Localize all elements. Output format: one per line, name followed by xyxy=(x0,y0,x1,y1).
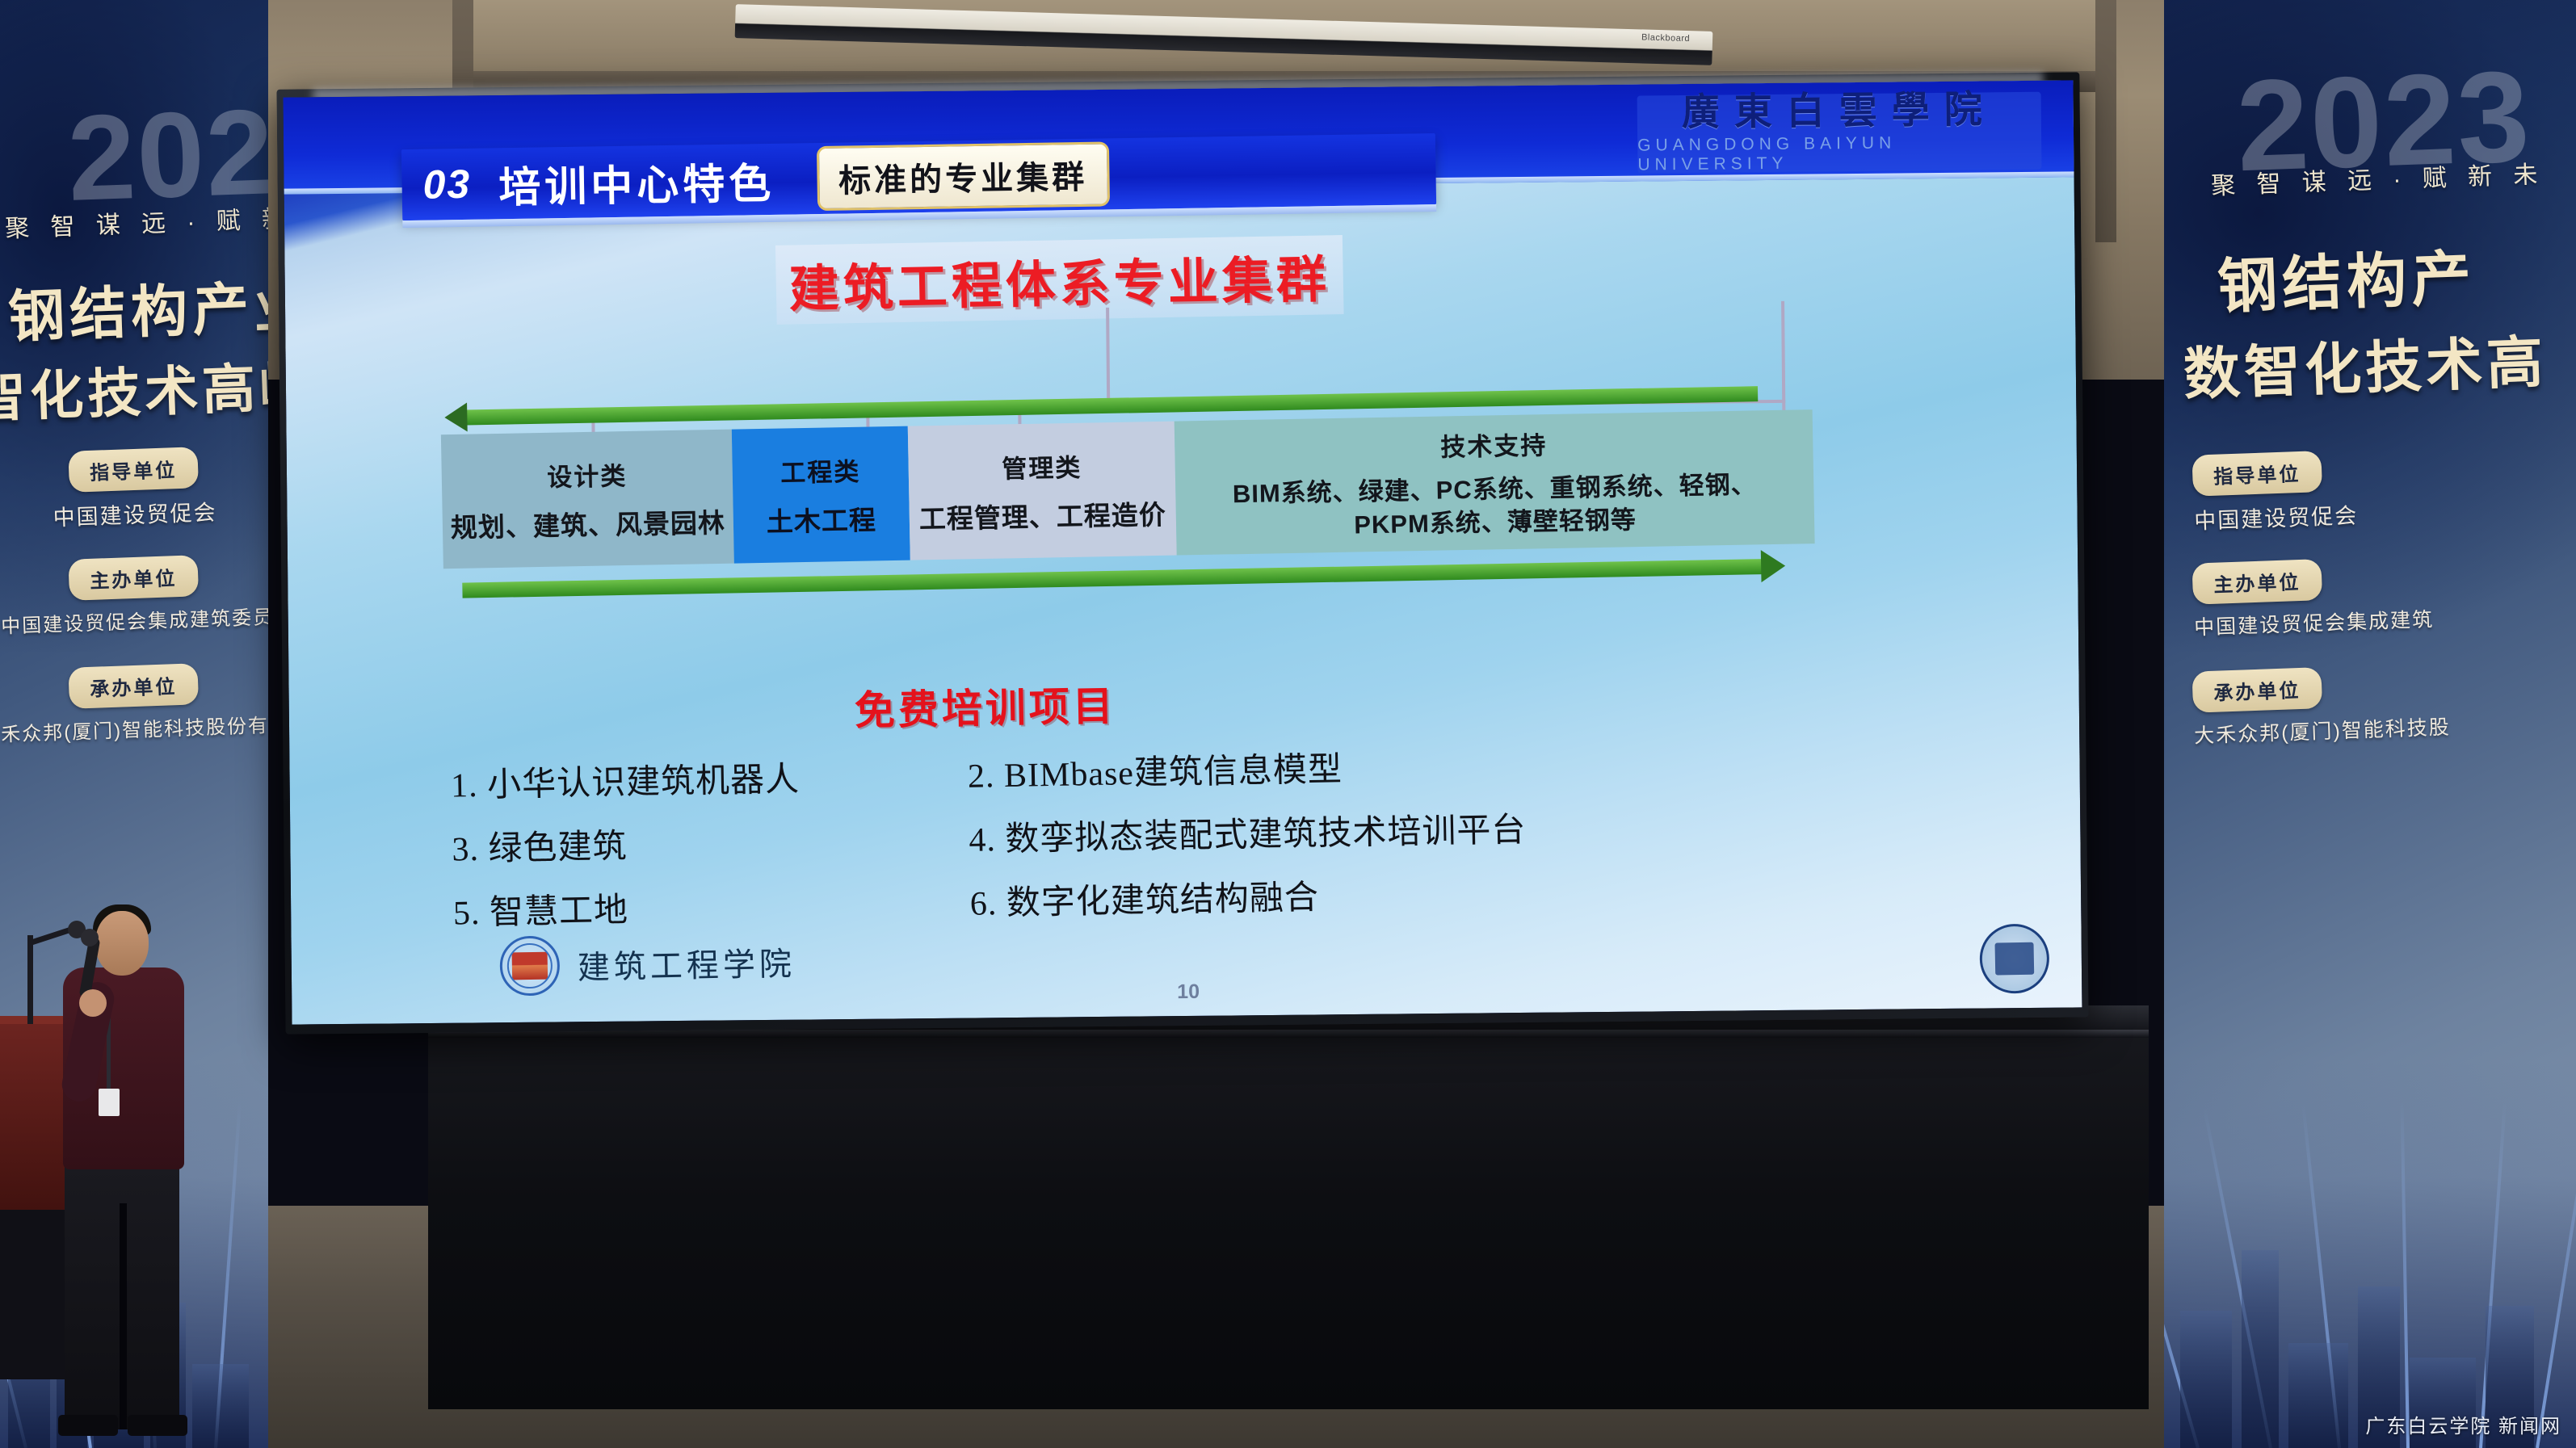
banner-title-line2: 数智化技术高 xyxy=(2182,317,2548,411)
seal-emblem xyxy=(1995,942,2035,976)
speaker-head xyxy=(95,911,149,976)
banner-title-line1: 钢结构产 xyxy=(2216,229,2477,325)
speaker-shoe-left xyxy=(58,1415,118,1436)
free-training-column-right: 2. BIMbase建筑信息模型 4. 数孪拟态装配式建筑技术培训平台 6. 数… xyxy=(967,738,1528,925)
stage-front-panel xyxy=(428,1030,2149,1409)
category-band: 设计类 规划、建筑、风景园林 工程类 土木工程 管理类 工程管理、工程造价 技术… xyxy=(441,409,1815,569)
college-seal-icon xyxy=(499,935,560,996)
conference-photo-scene: Blackboard 2023 聚 智 谋 远 · 赋 新 未 来 钢结构产业 … xyxy=(0,0,2576,1448)
university-name-en: GUANGDONG BAIYUN UNIVERSITY xyxy=(1637,132,2041,174)
category-title: 技术支持 xyxy=(1440,425,1548,463)
org-pill: 主办单位 xyxy=(2191,559,2322,605)
org-block-host: 主办单位 中国建设贸促会集成建筑 xyxy=(2164,550,2576,642)
list-item: 2. BIMbase建筑信息模型 xyxy=(967,738,1525,798)
category-tech-support: 技术支持 BIM系统、绿建、PC系统、重钢系统、轻钢、 PKPM系统、薄壁轻钢等 xyxy=(1175,409,1815,555)
speaker-leg-split xyxy=(120,1203,127,1429)
free-training-list: 1. 小华认识建筑机器人 3. 绿色建筑 5. 智慧工地 2. BIMbase建… xyxy=(450,732,1907,935)
list-item: 5. 智慧工地 xyxy=(452,876,970,935)
category-items-line2: PKPM系统、薄壁轻钢等 xyxy=(1354,504,1637,542)
category-items: 规划、建筑、风景园林 xyxy=(450,501,725,544)
college-name: 建筑工程学院 xyxy=(577,938,796,988)
university-seal-icon xyxy=(1979,923,2050,994)
org-pill: 指导单位 xyxy=(68,447,199,493)
right-banner: 2023 聚 智 谋 远 · 赋 新 未 钢结构产 数智化技术高 指导单位 中国… xyxy=(2164,0,2576,1448)
green-arrow-bar xyxy=(462,559,1763,598)
ceiling-pillar-right xyxy=(2095,0,2116,242)
university-name-cn: 廣東白雲學院 xyxy=(1682,91,1997,132)
list-item: 3. 绿色建筑 xyxy=(452,812,969,871)
category-title: 工程类 xyxy=(780,451,861,489)
university-logo: 廣東白雲學院 GUANGDONG BAIYUN UNIVERSITY xyxy=(1637,92,2042,174)
seal-ring xyxy=(506,943,553,989)
status-badge: 标准的专业集群 xyxy=(817,141,1110,211)
org-pill: 主办单位 xyxy=(68,555,199,601)
banner-title-line2: 智化技术高峰论坛 xyxy=(0,339,268,433)
tree-stem xyxy=(1106,308,1110,409)
page-title: 培训中心特色 xyxy=(498,149,775,213)
category-title: 设计类 xyxy=(547,455,628,493)
green-arrow-head xyxy=(444,402,468,432)
org-pill: 承办单位 xyxy=(68,663,199,709)
handheld-microphone-head xyxy=(81,929,99,946)
org-block-host: 主办单位 中国建设贸促会集成建筑委员会 xyxy=(0,552,268,639)
slide-page-number: 10 xyxy=(1177,980,1200,1004)
speaker-name-badge xyxy=(99,1089,120,1116)
org-pill: 指导单位 xyxy=(2191,451,2322,497)
section-number: 03 xyxy=(422,161,472,208)
speaker-shoe-right xyxy=(128,1415,187,1436)
category-management: 管理类 工程管理、工程造价 xyxy=(908,422,1177,560)
slide: 廣東白雲學院 GUANGDONG BAIYUN UNIVERSITY 03 培训… xyxy=(284,80,2082,1024)
banner-year: 2023 xyxy=(65,88,268,219)
org-pill: 承办单位 xyxy=(2191,667,2322,713)
org-name: 大禾众邦(厦门)智能科技股 xyxy=(2194,707,2576,749)
list-item: 6. 数字化建筑结构融合 xyxy=(969,866,1528,925)
slide-title-bar: 03 培训中心特色 标准的专业集群 xyxy=(401,133,1436,220)
projection-screen: 廣東白雲學院 GUANGDONG BAIYUN UNIVERSITY 03 培训… xyxy=(276,72,2088,1034)
category-items: 工程管理、工程造价 xyxy=(918,493,1166,536)
list-item: 1. 小华认识建筑机器人 xyxy=(450,749,968,808)
org-block-guidance: 指导单位 中国建设贸促会 xyxy=(0,444,268,534)
screen-surface: 廣東白雲學院 GUANGDONG BAIYUN UNIVERSITY 03 培训… xyxy=(284,80,2082,1024)
category-items-line1: BIM系统、绿建、PC系统、重钢系统、轻钢、 xyxy=(1233,468,1758,511)
org-block-organizer: 承办单位 大禾众邦(厦门)智能科技股 xyxy=(2164,658,2576,750)
city-silhouette xyxy=(2164,1060,2576,1448)
free-training-column-left: 1. 小华认识建筑机器人 3. 绿色建筑 5. 智慧工地 xyxy=(450,749,970,935)
category-design: 设计类 规划、建筑、风景园林 xyxy=(441,430,734,569)
projector-rail-label: Blackboard xyxy=(1641,32,1690,44)
green-arrow-right xyxy=(462,559,1763,598)
college-footer: 建筑工程学院 xyxy=(499,931,796,997)
free-training-title: 免费培训项目 xyxy=(854,674,1116,737)
microphone-stand xyxy=(27,935,33,1024)
list-item: 4. 数孪拟态装配式建筑技术培训平台 xyxy=(969,802,1527,862)
org-name: 禾众邦(厦门)智能科技股份有限公司 xyxy=(1,709,268,747)
category-engineering: 工程类 土木工程 xyxy=(732,426,910,564)
news-watermark: 广东白云学院 新闻网 xyxy=(2365,1410,2561,1438)
org-block-organizer: 承办单位 禾众邦(厦门)智能科技股份有限公司 xyxy=(0,661,268,747)
org-block-guidance: 指导单位 中国建设贸促会 xyxy=(2164,442,2576,536)
banner-title-line1: 钢结构产业 xyxy=(6,261,268,353)
speaker-hand xyxy=(79,989,107,1017)
category-title: 管理类 xyxy=(1002,447,1082,485)
category-items: 土木工程 xyxy=(766,498,876,539)
green-arrow-head xyxy=(1761,550,1786,583)
